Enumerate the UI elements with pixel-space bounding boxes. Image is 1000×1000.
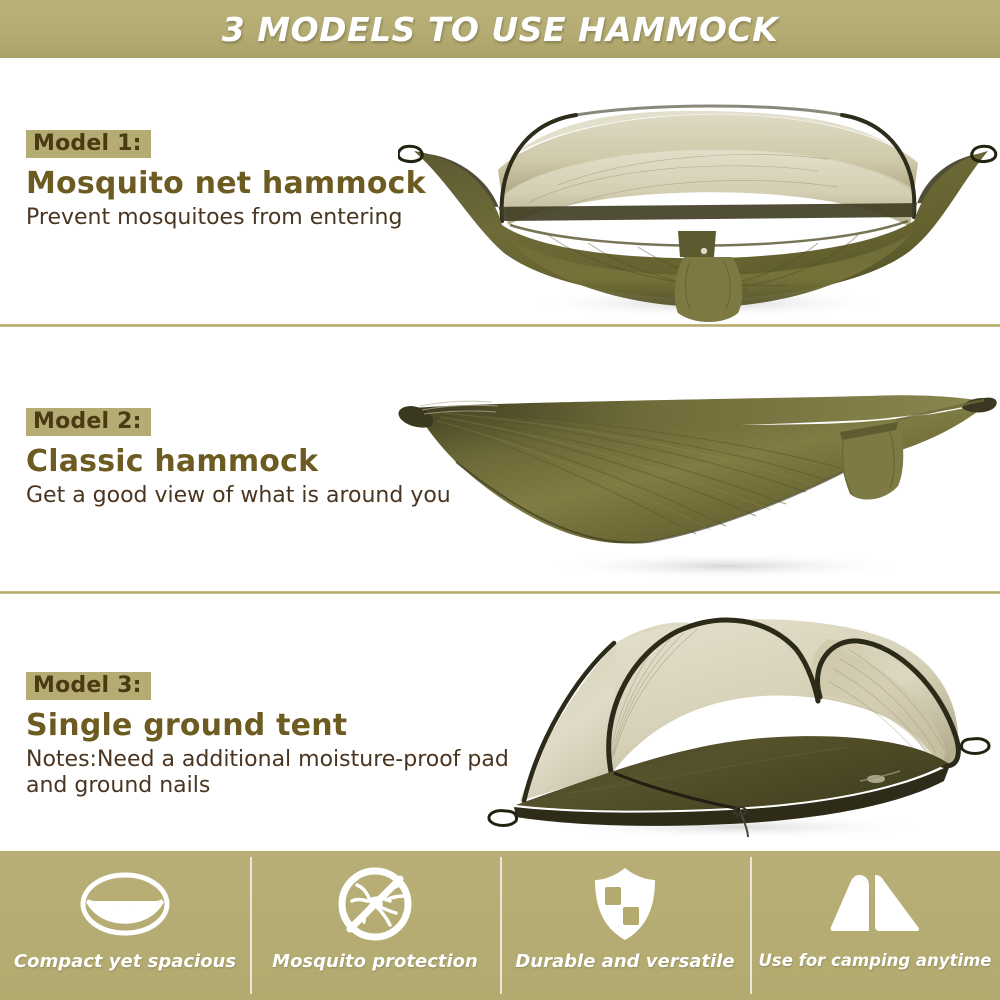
hammock-oval-icon bbox=[77, 865, 173, 943]
model-2-text-block: Model 2: Classic hammock Get a good view… bbox=[26, 408, 451, 509]
feature-label-camping: Use for camping anytime bbox=[759, 951, 992, 970]
feature-label-compact: Compact yet spacious bbox=[14, 951, 236, 972]
shield-check-icon bbox=[577, 865, 673, 943]
feature-bar: Compact yet spacious bbox=[0, 851, 1000, 1000]
model-1-badge: Model 1: bbox=[26, 130, 151, 158]
page-title: 3 MODELS TO USE HAMMOCK bbox=[222, 10, 778, 49]
model-2-badge: Model 2: bbox=[26, 408, 151, 436]
no-mosquito-icon bbox=[327, 865, 423, 943]
feature-label-durable: Durable and versatile bbox=[515, 951, 734, 972]
tent-icon bbox=[827, 865, 923, 943]
mosquito-net-hammock-photo bbox=[398, 75, 998, 325]
model-2-subtitle: Get a good view of what is around you bbox=[26, 483, 451, 510]
single-ground-tent-photo bbox=[448, 605, 1000, 845]
feature-durable-and-versatile: Durable and versatile bbox=[500, 851, 750, 1000]
feature-compact-yet-spacious: Compact yet spacious bbox=[0, 851, 250, 1000]
model-1-subtitle: Prevent mosquitoes from entering bbox=[26, 205, 426, 232]
feature-use-for-camping: Use for camping anytime bbox=[750, 851, 1000, 1000]
model-1-text-block: Model 1: Mosquito net hammock Prevent mo… bbox=[26, 130, 426, 231]
model-1-title: Mosquito net hammock bbox=[26, 167, 426, 202]
classic-hammock-photo bbox=[396, 376, 1000, 586]
feature-mosquito-protection: Mosquito protection bbox=[250, 851, 500, 1000]
model-2-title: Classic hammock bbox=[26, 445, 451, 480]
infographic-page: 3 MODELS TO USE HAMMOCK Model 1: Mosquit… bbox=[0, 0, 1000, 1000]
header-banner: 3 MODELS TO USE HAMMOCK bbox=[0, 0, 1000, 58]
feature-label-mosquito: Mosquito protection bbox=[272, 951, 478, 972]
model-3-badge: Model 3: bbox=[26, 672, 151, 700]
